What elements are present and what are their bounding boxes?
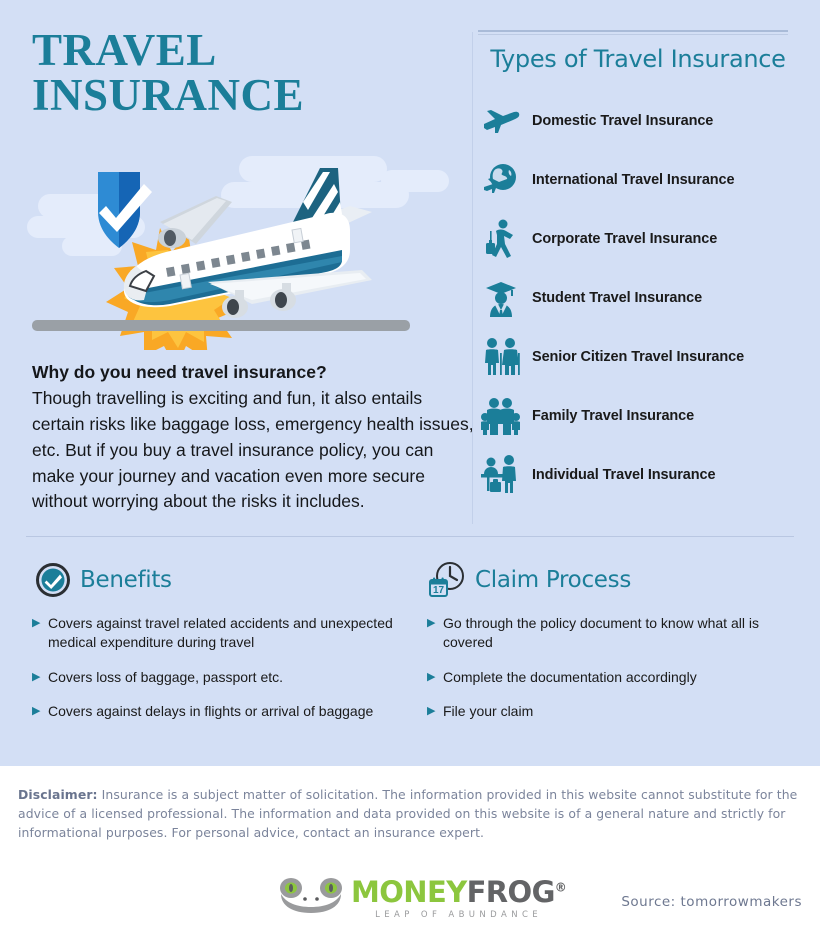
types-rule-top bbox=[478, 30, 788, 32]
list-item: ▶ Covers loss of baggage, passport etc. bbox=[32, 668, 402, 687]
types-section: Types of Travel Insurance Domestic Trave… bbox=[478, 30, 798, 504]
logo-text: MONEYFROG® LEAP OF ABUNDANCE bbox=[351, 878, 566, 920]
claim-process-title: Claim Process bbox=[475, 567, 631, 593]
list-item: ▶ Covers against delays in flights or ar… bbox=[32, 702, 402, 721]
benefits-list: ▶ Covers against travel related accident… bbox=[32, 614, 402, 721]
infographic-root: TRAVEL INSURANCE bbox=[0, 0, 820, 939]
benefits-section: Benefits ▶ Covers against travel related… bbox=[32, 560, 402, 736]
logo-word-money: MONEY bbox=[351, 875, 467, 909]
check-circle-icon bbox=[32, 560, 74, 600]
type-item-corporate[interactable]: Corporate Travel Insurance bbox=[478, 209, 798, 268]
type-item-domestic[interactable]: Domestic Travel Insurance bbox=[478, 91, 798, 150]
calendar-day-number: 17 bbox=[433, 585, 445, 596]
globe-airplane-icon bbox=[478, 158, 524, 202]
claim-process-section: 17 Claim Process ▶ Go through the policy… bbox=[427, 560, 797, 736]
type-item-individual[interactable]: Individual Travel Insurance bbox=[478, 445, 798, 504]
types-list: Domestic Travel Insurance International … bbox=[478, 91, 798, 504]
why-need-insurance-block: Why do you need travel insurance? Though… bbox=[32, 360, 477, 515]
logo-word-frog: FROG bbox=[467, 875, 555, 909]
triangle-bullet-icon: ▶ bbox=[427, 614, 443, 653]
benefits-header: Benefits bbox=[32, 560, 402, 600]
disclaimer-text: Insurance is a subject matter of solicit… bbox=[18, 787, 797, 840]
type-item-senior-citizen[interactable]: Senior Citizen Travel Insurance bbox=[478, 327, 798, 386]
cloud-icon bbox=[381, 170, 449, 192]
type-label: Student Travel Insurance bbox=[532, 290, 702, 306]
types-rule-bottom bbox=[478, 34, 788, 35]
type-label: International Travel Insurance bbox=[532, 172, 735, 188]
list-item: ▶ File your claim bbox=[427, 702, 797, 721]
benefit-text: Covers against travel related accidents … bbox=[48, 614, 402, 653]
benefits-title: Benefits bbox=[80, 567, 172, 593]
triangle-bullet-icon: ▶ bbox=[427, 668, 443, 687]
claim-process-list: ▶ Go through the policy document to know… bbox=[427, 614, 797, 721]
why-heading: Why do you need travel insurance? bbox=[32, 360, 477, 385]
triangle-bullet-icon: ▶ bbox=[32, 702, 48, 721]
types-title: Types of Travel Insurance bbox=[478, 45, 798, 73]
claim-step-text: File your claim bbox=[443, 702, 533, 721]
family-icon bbox=[478, 394, 524, 438]
type-item-family[interactable]: Family Travel Insurance bbox=[478, 386, 798, 445]
type-item-international[interactable]: International Travel Insurance bbox=[478, 150, 798, 209]
section-divider bbox=[26, 536, 794, 537]
clock-calendar-icon: 17 bbox=[427, 560, 469, 600]
runway-bar bbox=[32, 320, 410, 331]
type-label: Senior Citizen Travel Insurance bbox=[532, 349, 744, 365]
disclaimer: Disclaimer: Insurance is a subject matte… bbox=[18, 786, 803, 843]
type-label: Domestic Travel Insurance bbox=[532, 113, 713, 129]
list-item: ▶ Covers against travel related accident… bbox=[32, 614, 402, 653]
registered-mark: ® bbox=[555, 880, 566, 894]
source-credit: Source: tomorrowmakers bbox=[621, 894, 802, 910]
claim-step-text: Complete the documentation accordingly bbox=[443, 668, 697, 687]
footer: Disclaimer: Insurance is a subject matte… bbox=[0, 766, 820, 939]
triangle-bullet-icon: ▶ bbox=[427, 702, 443, 721]
page-title-block: TRAVEL INSURANCE bbox=[32, 28, 472, 117]
check-in-counter-icon bbox=[478, 453, 524, 497]
type-label: Family Travel Insurance bbox=[532, 408, 694, 424]
business-traveler-icon bbox=[478, 217, 524, 261]
page-title: TRAVEL INSURANCE bbox=[32, 28, 472, 117]
benefit-text: Covers against delays in flights or arri… bbox=[48, 702, 373, 721]
graduate-icon bbox=[478, 276, 524, 320]
claim-step-text: Go through the policy document to know w… bbox=[443, 614, 797, 653]
claim-process-header: 17 Claim Process bbox=[427, 560, 797, 600]
senior-couple-icon bbox=[478, 335, 524, 379]
footer-row: MONEYFROG® LEAP OF ABUNDANCE Source: tom… bbox=[0, 876, 820, 936]
triangle-bullet-icon: ▶ bbox=[32, 614, 48, 653]
type-item-student[interactable]: Student Travel Insurance bbox=[478, 268, 798, 327]
disclaimer-label: Disclaimer: bbox=[18, 787, 98, 802]
frog-face-icon bbox=[278, 876, 344, 921]
type-label: Corporate Travel Insurance bbox=[532, 231, 717, 247]
triangle-bullet-icon: ▶ bbox=[32, 668, 48, 687]
list-item: ▶ Complete the documentation accordingly bbox=[427, 668, 797, 687]
page-title-line2: INSURANCE bbox=[32, 70, 304, 120]
page-title-line1: TRAVEL bbox=[32, 25, 217, 75]
moneyfrog-logo[interactable]: MONEYFROG® LEAP OF ABUNDANCE bbox=[278, 876, 566, 921]
benefit-text: Covers loss of baggage, passport etc. bbox=[48, 668, 283, 687]
type-label: Individual Travel Insurance bbox=[532, 467, 715, 483]
airplane-takeoff-illustration bbox=[20, 140, 460, 350]
airplane-icon bbox=[478, 99, 524, 143]
column-divider bbox=[472, 32, 473, 524]
list-item: ▶ Go through the policy document to know… bbox=[427, 614, 797, 653]
logo-tagline: LEAP OF ABUNDANCE bbox=[351, 910, 566, 920]
why-body: Though travelling is exciting and fun, i… bbox=[32, 386, 477, 515]
